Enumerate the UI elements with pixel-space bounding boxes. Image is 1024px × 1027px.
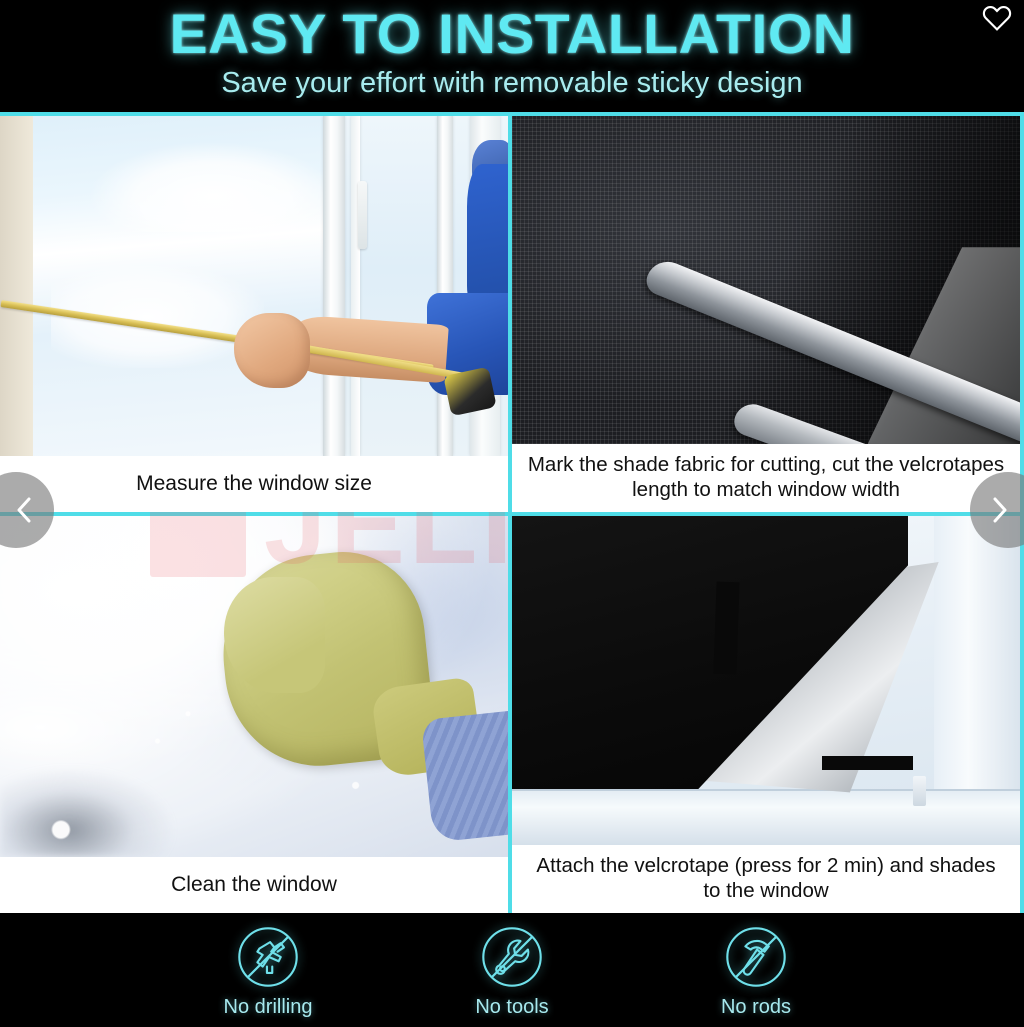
hammer-icon bbox=[722, 923, 790, 991]
feature-no-drilling: No drilling bbox=[204, 923, 332, 1019]
installation-steps-grid: Measure the window size Mark the shade f… bbox=[0, 112, 1024, 913]
header-banner: EASY TO INSTALLATION Save your effort wi… bbox=[0, 0, 1024, 112]
step-measure-caption: Measure the window size bbox=[0, 456, 508, 512]
step-clean-caption: Clean the window bbox=[0, 857, 508, 913]
step-clean: Clean the window bbox=[0, 516, 508, 913]
step-attach: Attach the velcrotape (press for 2 min) … bbox=[512, 516, 1020, 913]
drill-icon bbox=[234, 923, 302, 991]
chevron-right-icon bbox=[987, 494, 1024, 526]
heart-icon[interactable] bbox=[980, 2, 1014, 34]
step-cut-photo bbox=[512, 116, 1020, 444]
feature-no-rods: No rods bbox=[692, 923, 820, 1019]
step-cut-caption: Mark the shade fabric for cutting, cut t… bbox=[512, 444, 1020, 512]
step-cut: Mark the shade fabric for cutting, cut t… bbox=[512, 116, 1020, 512]
step-measure-photo bbox=[0, 116, 508, 456]
feature-no-tools: No tools bbox=[448, 923, 576, 1019]
feature-no-rods-label: No rods bbox=[692, 996, 820, 1019]
page-title: EASY TO INSTALLATION bbox=[0, 3, 1024, 65]
step-clean-photo bbox=[0, 516, 508, 857]
feature-no-tools-label: No tools bbox=[448, 996, 576, 1019]
step-attach-photo bbox=[512, 516, 1020, 845]
page-subtitle: Save your effort with removable sticky d… bbox=[0, 66, 1024, 100]
product-infographic: EASY TO INSTALLATION Save your effort wi… bbox=[0, 0, 1024, 1027]
feature-badges-row: No drilling No tools bbox=[0, 913, 1024, 1027]
step-measure: Measure the window size bbox=[0, 116, 508, 512]
chevron-left-icon bbox=[0, 494, 37, 526]
step-attach-caption: Attach the velcrotape (press for 2 min) … bbox=[512, 845, 1020, 913]
feature-no-drilling-label: No drilling bbox=[204, 996, 332, 1019]
wrench-icon bbox=[478, 923, 546, 991]
